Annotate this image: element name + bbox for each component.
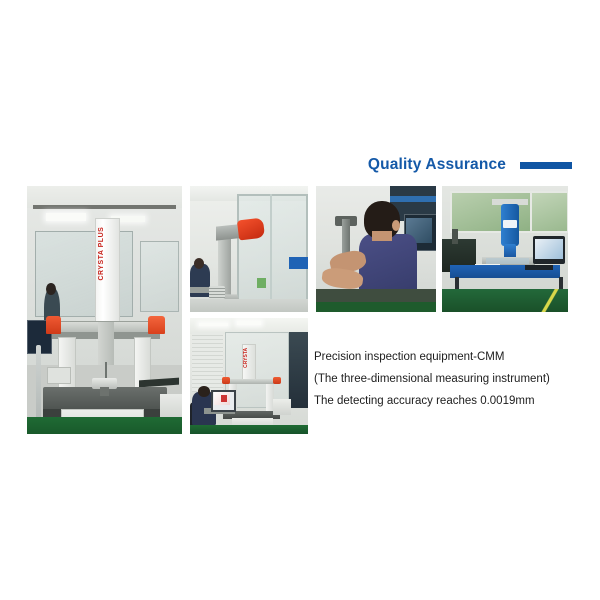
glass-enclosure xyxy=(237,194,308,304)
ceiling-lamp xyxy=(199,323,227,326)
window-left xyxy=(450,191,532,233)
black-equipment-arm xyxy=(452,229,458,244)
description-line-3: The detecting accuracy reaches 0.0019mm xyxy=(314,390,586,412)
ceiling-lamp xyxy=(237,321,261,324)
ceiling-rail xyxy=(33,205,176,209)
red-end-cap-right xyxy=(148,316,165,333)
photo-technician-inspecting[interactable] xyxy=(316,186,436,312)
monitor-screen xyxy=(535,239,563,259)
photo-1-scene: CRYSTA PLUS xyxy=(27,186,182,434)
green-container xyxy=(257,278,265,288)
photo-3-scene xyxy=(316,186,436,312)
window-right xyxy=(530,191,568,233)
red-end-cap-right xyxy=(273,377,281,384)
work-bench xyxy=(316,289,436,302)
operator-head xyxy=(198,386,210,396)
screen-graphic xyxy=(221,395,227,402)
photo-gallery: CRYSTA PLUS xyxy=(0,0,600,600)
blue-equipment xyxy=(289,257,308,270)
floor xyxy=(190,299,308,312)
description-block: Precision inspection equipment-CMM (The … xyxy=(314,346,586,412)
yellow-cable xyxy=(533,289,568,312)
green-floor xyxy=(190,425,308,434)
blue-stripe xyxy=(390,196,436,202)
machine-label xyxy=(503,220,517,228)
description-line-1: Precision inspection equipment-CMM xyxy=(314,346,586,368)
window-blinds xyxy=(192,332,223,392)
photo-cmm-arm-red-head[interactable] xyxy=(190,186,308,312)
red-end-cap-left xyxy=(46,316,62,333)
green-floor xyxy=(316,302,436,312)
machine-brand-label: CRYSTA xyxy=(243,347,252,368)
control-box xyxy=(47,367,71,384)
photo-cmm-machine-large[interactable]: CRYSTA PLUS xyxy=(27,186,182,434)
photo-vision-measuring-machine[interactable] xyxy=(442,186,568,312)
cmm-z-ram xyxy=(98,322,114,364)
workpiece-fixture xyxy=(100,387,109,396)
red-end-cap-left xyxy=(222,377,230,384)
keyboard xyxy=(525,265,553,270)
ceiling-lamp xyxy=(46,213,86,220)
stacked-parts xyxy=(209,286,226,300)
green-floor xyxy=(27,417,182,434)
photo-metrology-room[interactable]: CRYSTA xyxy=(190,318,308,434)
glass-partition xyxy=(140,241,179,312)
glass-mullion xyxy=(270,194,272,300)
technician-neck xyxy=(372,231,391,241)
photo-4-scene xyxy=(442,186,568,312)
side-cabinet xyxy=(273,399,292,415)
description-line-2: (The three-dimensional measuring instrum… xyxy=(314,368,586,390)
dark-doorway xyxy=(289,332,308,409)
photo-5-scene: CRYSTA xyxy=(190,318,308,434)
photo-2-scene xyxy=(190,186,308,312)
machine-brand-label: CRYSTA PLUS xyxy=(98,226,117,281)
